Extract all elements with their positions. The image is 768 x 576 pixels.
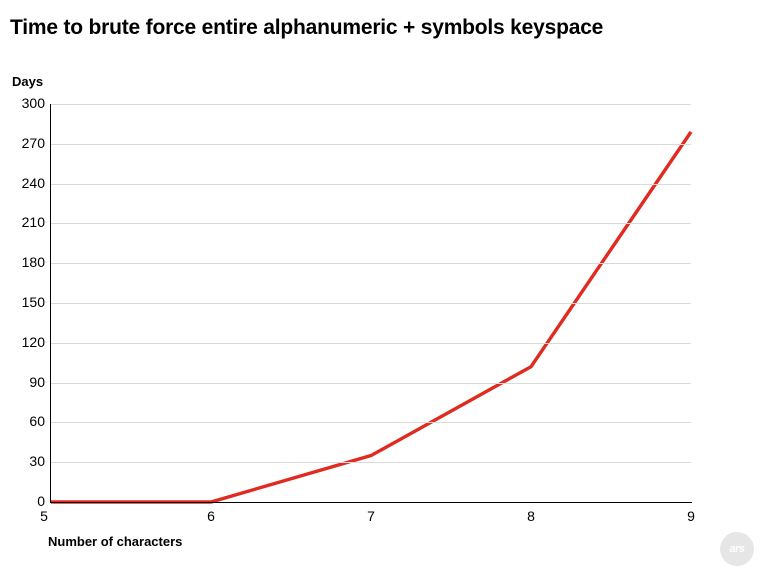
chart-container: Time to brute force entire alphanumeric … bbox=[0, 0, 768, 576]
gridline-y bbox=[51, 343, 691, 344]
y-axis-tick-label: 210 bbox=[3, 214, 45, 230]
y-axis-tick-label: 150 bbox=[3, 294, 45, 310]
gridline-y bbox=[51, 223, 691, 224]
chart-title: Time to brute force entire alphanumeric … bbox=[10, 16, 603, 40]
gridline-y bbox=[51, 462, 691, 463]
y-axis-tick-label: 120 bbox=[3, 334, 45, 350]
watermark-label: ars bbox=[729, 543, 744, 555]
y-axis-tick-label: 300 bbox=[3, 95, 45, 111]
y-axis-tick-label: 180 bbox=[3, 254, 45, 270]
gridline-y bbox=[51, 184, 691, 185]
y-axis-line bbox=[50, 104, 51, 503]
y-axis-tick-label: 0 bbox=[3, 493, 45, 509]
y-axis-tick-label: 240 bbox=[3, 175, 45, 191]
x-axis-tick-label: 5 bbox=[24, 508, 64, 524]
x-axis-tick-label: 7 bbox=[351, 508, 391, 524]
y-axis-tick-label: 270 bbox=[3, 135, 45, 151]
plot-area bbox=[51, 104, 691, 502]
line-series-days-to-brute-force bbox=[51, 132, 691, 502]
y-axis-tick-label: 60 bbox=[3, 413, 45, 429]
gridline-y bbox=[51, 144, 691, 145]
x-axis-tick-label: 6 bbox=[191, 508, 231, 524]
gridline-y bbox=[51, 383, 691, 384]
x-axis-label: Number of characters bbox=[48, 534, 182, 549]
gridline-y bbox=[51, 422, 691, 423]
x-axis-tick-label: 8 bbox=[511, 508, 551, 524]
y-axis-label: Days bbox=[12, 74, 43, 89]
x-axis-line bbox=[50, 502, 692, 503]
y-axis-tick-label: 30 bbox=[3, 453, 45, 469]
gridline-y bbox=[51, 104, 691, 105]
ars-technica-watermark-icon: ars bbox=[720, 532, 754, 566]
x-axis-tick-label: 9 bbox=[671, 508, 711, 524]
y-axis-tick-label: 90 bbox=[3, 374, 45, 390]
gridline-y bbox=[51, 263, 691, 264]
gridline-y bbox=[51, 303, 691, 304]
